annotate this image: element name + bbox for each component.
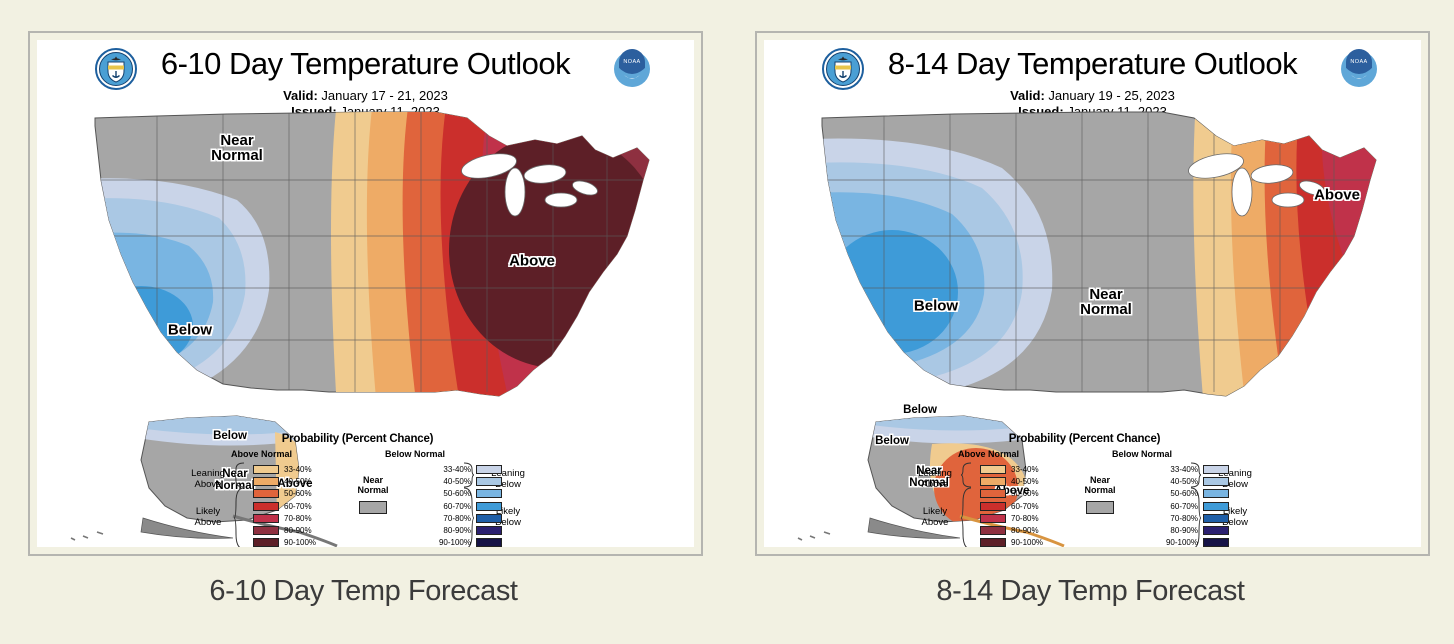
legend-range-label: 50-60% [431,489,471,498]
legend-range-label: 80-90% [284,526,324,535]
outlook-page: NOAA 6-10 Day Temperature Outlook Valid:… [0,0,1454,644]
legend-color-swatch [476,502,502,511]
legend-color-swatch [253,514,279,523]
legend-below-swatches: 33-40%40-50%50-60%60-70%70-80%80-90%90-1… [431,463,502,547]
legend-likely-above-label: Likely Above [910,507,960,528]
brace-leaning-above-icon [960,462,972,488]
brace-likely-above-icon [960,487,972,547]
legend-leaning-above-label: Leaning Above [910,469,960,490]
legend-swatch-row: 60-70% [253,500,324,512]
legend-near-normal-swatch [1086,501,1114,514]
legend-color-swatch [1203,538,1229,547]
legend-range-label: 90-100% [1011,538,1051,547]
legend-above-swatches: 33-40%40-50%50-60%60-70%70-80%80-90%90-1… [253,463,324,547]
legend-swatch-row: 80-90% [431,524,502,536]
legend-range-label: 40-50% [284,477,324,486]
legend-swatch-row: 40-50% [1158,475,1229,487]
map-frame-6-10: NOAA 6-10 Day Temperature Outlook Valid:… [28,31,703,556]
legend-range-label: 70-80% [1158,514,1198,523]
legend-color-swatch [1203,526,1229,535]
legend-near-normal: Near Normal [1074,475,1126,514]
legend-below-swatches: 33-40%40-50%50-60%60-70%70-80%80-90%90-1… [1158,463,1229,547]
legend-swatch-row: 70-80% [431,512,502,524]
legend-swatch-row: 40-50% [431,475,502,487]
legend-range-label: 90-100% [1158,538,1198,547]
legend-near-normal-swatch [359,501,387,514]
legend-swatch-row: 90-100% [1158,537,1229,547]
legend-range-label: 60-70% [284,502,324,511]
legend-swatch-row: 60-70% [1158,500,1229,512]
legend-color-swatch [253,465,279,474]
legend-range-label: 33-40% [284,465,324,474]
legend-color-swatch [253,477,279,486]
legend-color-swatch [476,526,502,535]
legend-swatch-row: 80-90% [1158,524,1229,536]
legend-swatch-row: 70-80% [1158,512,1229,524]
legend-range-label: 90-100% [431,538,471,547]
panel-caption: 6-10 Day Temp Forecast [0,575,727,608]
legend-range-label: 50-60% [1011,489,1051,498]
legend-swatch-row: 33-40% [253,463,324,475]
legend-range-label: 80-90% [431,526,471,535]
legend-range-label: 60-70% [1011,502,1051,511]
legend-color-swatch [1203,489,1229,498]
legend-color-swatch [1203,514,1229,523]
legend-heading-above: Above Normal [231,449,292,459]
legend-swatch-row: 80-90% [980,524,1051,536]
legend-range-label: 80-90% [1011,526,1051,535]
legend-color-swatch [980,477,1006,486]
legend-swatch-row: 90-100% [980,537,1051,547]
legend-swatch-row: 60-70% [431,500,502,512]
panel-8-14-day: NOAA 8-14 Day Temperature Outlook Valid:… [727,0,1454,644]
legend-likely-above-label: Likely Above [183,507,233,528]
legend-color-swatch [253,502,279,511]
legend-range-label: 40-50% [1011,477,1051,486]
legend-range-label: 70-80% [431,514,471,523]
legend-range-label: 60-70% [431,502,471,511]
legend-near-normal: Near Normal [347,475,399,514]
legend-heading-below: Below Normal [385,449,445,459]
legend-swatch-row: 33-40% [431,463,502,475]
legend-swatch-row: 33-40% [1158,463,1229,475]
legend-color-swatch [980,514,1006,523]
legend-range-label: 70-80% [284,514,324,523]
legend-color-swatch [476,477,502,486]
map-frame-8-14: NOAA 8-14 Day Temperature Outlook Valid:… [755,31,1430,556]
legend-color-swatch [476,538,502,547]
legend-title: Probability (Percent Chance) [922,433,1247,445]
legend-range-label: 50-60% [284,489,324,498]
probability-legend: Probability (Percent Chance) Above Norma… [195,433,520,543]
legend-above-swatches: 33-40%40-50%50-60%60-70%70-80%80-90%90-1… [980,463,1051,547]
legend-heading-above: Above Normal [958,449,1019,459]
legend-color-swatch [1203,502,1229,511]
panel-caption: 8-14 Day Temp Forecast [727,575,1454,608]
legend-swatch-row: 40-50% [253,475,324,487]
legend-swatch-row: 70-80% [980,512,1051,524]
legend-range-label: 33-40% [1158,465,1198,474]
brace-leaning-above-icon [233,462,245,488]
legend-swatch-row: 70-80% [253,512,324,524]
map-canvas-8-14: NOAA 8-14 Day Temperature Outlook Valid:… [764,40,1421,547]
legend-swatch-row: 50-60% [253,488,324,500]
legend-color-swatch [476,465,502,474]
legend-swatch-row: 90-100% [431,537,502,547]
legend-swatch-row: 50-60% [1158,488,1229,500]
legend-color-swatch [1203,477,1229,486]
legend-swatch-row: 33-40% [980,463,1051,475]
legend-range-label: 50-60% [1158,489,1198,498]
legend-heading-below: Below Normal [1112,449,1172,459]
legend-color-swatch [476,514,502,523]
legend-leaning-above-label: Leaning Above [183,469,233,490]
legend-range-label: 70-80% [1011,514,1051,523]
legend-swatch-row: 50-60% [431,488,502,500]
legend-title: Probability (Percent Chance) [195,433,520,445]
legend-color-swatch [980,526,1006,535]
legend-swatch-row: 80-90% [253,524,324,536]
legend-range-label: 40-50% [431,477,471,486]
legend-swatch-row: 90-100% [253,537,324,547]
legend-range-label: 33-40% [1011,465,1051,474]
legend-near-normal-label: Near Normal [1074,475,1126,495]
legend-range-label: 90-100% [284,538,324,547]
legend-color-swatch [1203,465,1229,474]
legend-color-swatch [980,502,1006,511]
legend-swatch-row: 60-70% [980,500,1051,512]
legend-color-swatch [476,489,502,498]
legend-color-swatch [980,489,1006,498]
legend-color-swatch [980,465,1006,474]
legend-range-label: 60-70% [1158,502,1198,511]
panel-6-10-day: NOAA 6-10 Day Temperature Outlook Valid:… [0,0,727,644]
legend-color-swatch [253,526,279,535]
legend-range-label: 33-40% [431,465,471,474]
map-canvas-6-10: NOAA 6-10 Day Temperature Outlook Valid:… [37,40,694,547]
legend-color-swatch [253,489,279,498]
legend-near-normal-label: Near Normal [347,475,399,495]
legend-swatch-row: 50-60% [980,488,1051,500]
legend-range-label: 40-50% [1158,477,1198,486]
legend-range-label: 80-90% [1158,526,1198,535]
legend-swatch-row: 40-50% [980,475,1051,487]
legend-color-swatch [980,538,1006,547]
legend-color-swatch [253,538,279,547]
probability-legend: Probability (Percent Chance) Above Norma… [922,433,1247,543]
brace-likely-above-icon [233,487,245,547]
